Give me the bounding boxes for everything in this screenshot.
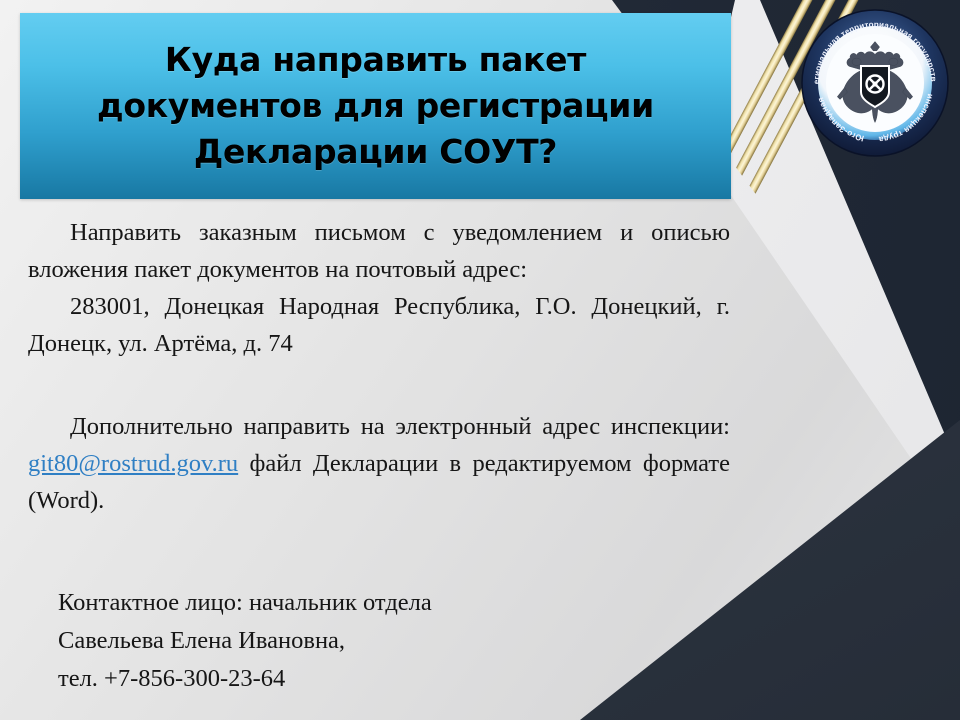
postal-address-line1: 283001, Донецкая Народная Республика, (70, 293, 520, 320)
slide-body-content: Направить заказным письмом с уведомление… (0, 214, 760, 519)
paragraph-email-instruction: Дополнительно направить на электронный а… (0, 408, 760, 519)
paragraph-postal-intro-line1: Направить заказным письмом с уведомление… (70, 219, 633, 246)
contact-name-line: Савельева Елена Ивановна, (58, 622, 678, 660)
slide-title-text: Куда направить пакет документов для реги… (83, 37, 668, 175)
paragraph-postal-address: 283001, Донецкая Народная Республика, Г.… (0, 288, 760, 362)
organization-seal-emblem: межрегиональная территориальная государс… (800, 8, 950, 158)
slide-title-banner: Куда направить пакет документов для реги… (20, 13, 731, 199)
paragraph-postal-intro: Направить заказным письмом с уведомление… (0, 214, 760, 288)
email-address-link[interactable]: git80@rostrud.gov.ru (28, 450, 238, 477)
slide-canvas: Куда направить пакет документов для реги… (0, 0, 960, 720)
title-line-1: Куда направить пакет (165, 40, 586, 79)
contact-phone-line: тел. +7-856-300-23-64 (58, 660, 678, 698)
contact-details-block: Контактное лицо: начальник отдела Савель… (58, 584, 678, 698)
title-line-3: Декларации СОУТ? (194, 132, 557, 171)
email-instruction-prefix: Дополнительно направить на электронный а… (70, 413, 730, 440)
contact-role-line: Контактное лицо: начальник отдела (58, 584, 678, 622)
title-line-2: документов для регистрации (97, 86, 654, 125)
paragraph-spacer (0, 362, 760, 408)
